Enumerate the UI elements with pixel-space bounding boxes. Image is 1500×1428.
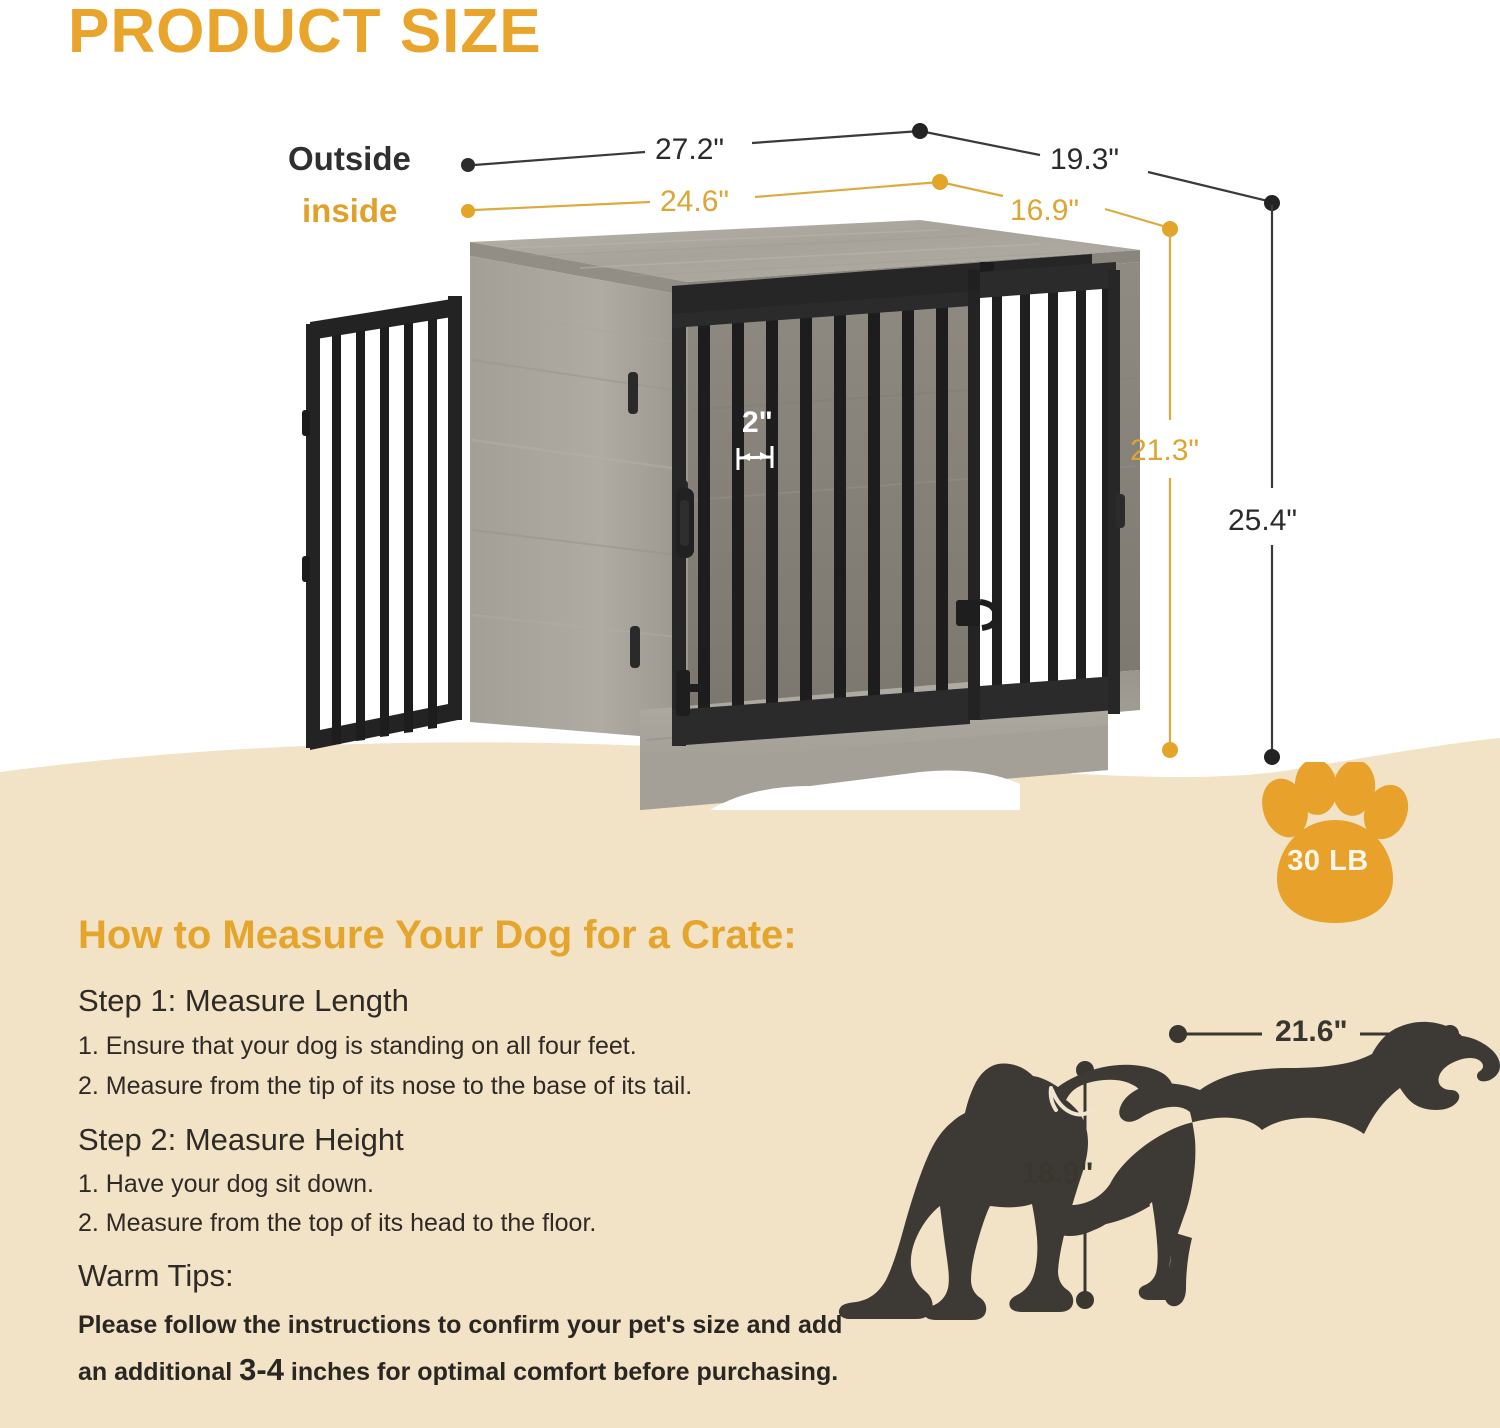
step-1-line-1: 1. Ensure that your dog is standing on a… [78, 1032, 637, 1061]
dimension-outside-width: 27.2" [655, 133, 724, 167]
step-1-title: Step 1: Measure Length [78, 983, 409, 1019]
standing-dog-silhouette [1033, 1022, 1500, 1306]
warm-tips-line-2-pre: an additional [78, 1358, 239, 1386]
legend-outside-label: Outside [288, 140, 411, 178]
step-2-line-1: 1. Have your dog sit down. [78, 1170, 374, 1199]
step-2-line-2: 2. Measure from the top of its head to t… [78, 1209, 596, 1238]
how-to-measure-heading: How to Measure Your Dog for a Crate: [78, 913, 797, 958]
dimension-lines-overlay [0, 0, 1500, 820]
dog-height-label: 18.9" [1021, 1157, 1094, 1191]
warm-tips-title: Warm Tips: [78, 1258, 234, 1294]
dimension-outside-height: 25.4" [1228, 504, 1297, 538]
dimension-inside-depth: 16.9" [1010, 194, 1079, 228]
warm-tips-line-2: an additional 3-4 inches for optimal com… [78, 1352, 838, 1388]
step-2-title: Step 2: Measure Height [78, 1122, 404, 1158]
warm-tips-line-1: Please follow the instructions to confir… [78, 1311, 842, 1340]
dog-length-label: 21.6" [1275, 1015, 1348, 1049]
warm-tips-line-2-post: inches for optimal comfort before purcha… [284, 1358, 838, 1386]
step-1-line-2: 2. Measure from the tip of its nose to t… [78, 1072, 692, 1101]
warm-tips-emphasis: 3-4 [239, 1352, 284, 1387]
dimension-inside-width: 24.6" [660, 185, 729, 219]
infographic-canvas: PRODUCT SIZE [0, 0, 1500, 1428]
legend-inside-label: inside [302, 192, 397, 230]
dog-measurement-diagram [820, 1000, 1500, 1360]
weight-badge-label: 30 LB [1263, 845, 1393, 878]
dimension-inside-height: 21.3" [1130, 434, 1199, 468]
dimension-outside-depth: 19.3" [1050, 143, 1119, 177]
